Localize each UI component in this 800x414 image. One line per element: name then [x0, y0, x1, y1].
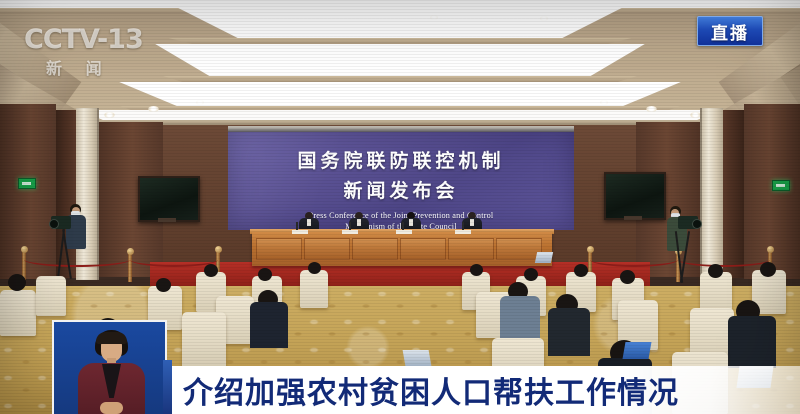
audience-head	[470, 264, 483, 276]
wall-panel-right	[744, 104, 800, 279]
audience-chair	[182, 312, 226, 368]
audience-head	[156, 278, 171, 292]
ceiling	[0, 0, 800, 132]
live-badge: 直播	[697, 16, 763, 46]
audience-head	[204, 264, 218, 277]
wall-panel-left	[0, 104, 56, 279]
audience-head	[524, 268, 538, 281]
anchor-fringe	[96, 332, 127, 344]
anchor-hands	[100, 402, 123, 414]
anchor-inset	[52, 320, 167, 414]
audience-head	[574, 264, 588, 277]
audience-head	[258, 268, 272, 281]
audience-head	[708, 264, 723, 278]
exit-sign-left	[18, 178, 36, 189]
audience-head	[308, 262, 321, 274]
live-badge-label: 直播	[711, 19, 749, 44]
lower-third-accent	[163, 360, 172, 414]
ceiling-downlight	[540, 16, 548, 21]
exit-sign-right	[772, 180, 790, 191]
ceiling-downlight	[600, 100, 608, 105]
backdrop-title-line1: 国务院联防联控机制	[228, 146, 574, 173]
ceiling-downlight	[104, 112, 115, 118]
backdrop-rail	[228, 126, 574, 132]
ceiling-downlight	[430, 15, 438, 20]
wall-monitor-left	[138, 176, 200, 222]
podium-table	[252, 232, 552, 266]
laptop	[623, 342, 652, 359]
ceiling-downlight	[148, 106, 159, 112]
laptop	[403, 350, 432, 366]
pillar-left	[76, 108, 98, 280]
audience-person	[548, 308, 590, 356]
audience-person	[728, 316, 776, 368]
audience-chair	[36, 276, 66, 316]
wall-panel-right	[722, 110, 744, 278]
backdrop-title-line2: 新闻发布会	[228, 176, 574, 203]
audience-chair	[300, 270, 328, 308]
laptop	[535, 252, 553, 263]
audience-person	[250, 302, 288, 348]
audience-head	[620, 270, 635, 284]
broadcast-frame: 国务院联防联控机制 新闻发布会 Press Conference of the …	[0, 0, 800, 414]
ceiling-downlight	[196, 100, 204, 105]
audience-head	[8, 274, 26, 291]
lower-third-headline: 介绍加强农村贫困人口帮扶工作情况	[183, 369, 783, 411]
stanchion	[128, 252, 132, 282]
wall-monitor-right	[604, 172, 666, 220]
audience-person	[500, 296, 540, 340]
audience-head	[760, 262, 776, 277]
pillar-right	[701, 108, 723, 280]
ceiling-downlight	[646, 106, 657, 112]
audience-chair	[0, 290, 36, 336]
